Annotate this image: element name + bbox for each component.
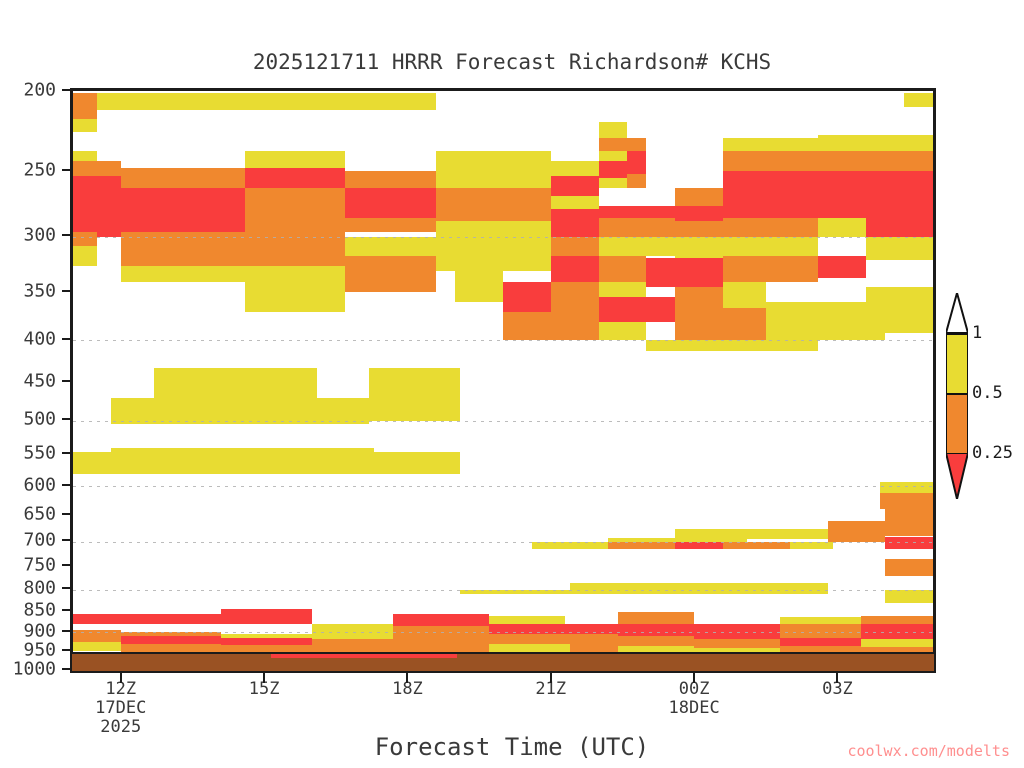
heatmap-cell	[766, 218, 819, 236]
heatmap-cell	[818, 256, 866, 278]
heatmap-cell	[861, 616, 933, 624]
y-axis-tick-label: 500	[23, 409, 56, 430]
y-axis: 2002503003504004505005506006507007508008…	[0, 0, 70, 768]
colorbar-segment	[946, 393, 968, 453]
chart-title: 2025121711 HRRR Forecast Richardson# KCH…	[0, 50, 1024, 74]
heatmap-cell	[885, 509, 933, 536]
heatmap-cell	[618, 624, 694, 636]
heatmap-cell	[221, 638, 312, 645]
heatmap-cell	[675, 206, 723, 221]
x-axis-tick-mark	[693, 673, 695, 683]
heatmap-cell	[861, 639, 933, 647]
heatmap-cell	[345, 171, 436, 188]
heatmap-cell	[489, 624, 618, 634]
heatmap-cell	[646, 221, 722, 237]
heatmap-cell	[599, 282, 647, 298]
x-tick-date: 18DEC	[669, 698, 720, 718]
heatmap-cell	[73, 151, 97, 162]
heatmap-cell	[723, 151, 819, 172]
heatmap-cell	[551, 256, 599, 282]
heatmap-cell	[345, 188, 436, 218]
colorbar-divider	[946, 333, 968, 335]
heatmap-cell	[73, 642, 121, 651]
heatmap-cell	[866, 237, 933, 260]
plot-area	[70, 88, 936, 670]
heatmap-cell	[723, 340, 819, 351]
heatmap-cell	[866, 287, 933, 308]
heatmap-cell	[608, 542, 675, 550]
x-axis-tick-mark	[120, 673, 122, 683]
heatmap-cell	[646, 258, 722, 287]
heatmap-cell	[866, 308, 933, 333]
heatmap-cell	[245, 151, 345, 169]
heatmap-cell	[345, 256, 436, 293]
heatmap-cell	[599, 322, 647, 340]
heatmap-cell	[97, 93, 436, 110]
heatmap-cell	[866, 222, 933, 237]
heatmap-cell	[345, 237, 436, 256]
heatmap-cell	[828, 521, 885, 542]
heatmap-cell	[245, 282, 345, 312]
heatmap-cell	[723, 188, 866, 218]
x-axis-tick-label: 12Z17DEC2025	[95, 680, 146, 737]
heatmap-cell	[436, 188, 551, 221]
heatmap-cell	[675, 542, 723, 550]
heatmap-cell	[885, 590, 933, 603]
x-axis-tick-mark	[406, 673, 408, 683]
heatmap-cell	[599, 122, 628, 138]
heatmap-cell	[73, 630, 121, 642]
colorbar-legend: 10.50.25	[946, 333, 968, 453]
heatmap-cell	[904, 93, 933, 107]
y-axis-tick-label: 850	[23, 600, 56, 621]
heatmap-cell	[599, 237, 675, 256]
heatmap-cell	[489, 634, 618, 644]
colorbar-tick-label: 1	[972, 323, 982, 343]
heatmap-cell	[111, 398, 154, 424]
heatmap-cell	[551, 209, 599, 236]
heatmap-cell	[121, 188, 245, 232]
heatmap-cell	[73, 176, 121, 237]
heatmap-cell	[121, 266, 346, 282]
x-axis-tick-label: 00Z18DEC	[669, 680, 720, 718]
x-axis-tick-mark	[263, 673, 265, 683]
heatmap-cell	[436, 151, 551, 176]
x-tick-date: 17DEC	[95, 698, 146, 718]
heatmap-cell	[503, 312, 551, 340]
heatmap-cell	[818, 151, 933, 172]
heatmap-cell	[618, 636, 694, 646]
heatmap-cell	[374, 452, 460, 474]
heatmap-cell	[121, 168, 245, 188]
y-axis-tick-label: 350	[23, 280, 56, 301]
heatmap-cell	[747, 529, 828, 539]
heatmap-cell	[627, 138, 646, 150]
colorbar-tick-label: 0.5	[972, 383, 1003, 403]
heatmap-cell	[723, 256, 766, 282]
heatmap-cell	[599, 256, 647, 282]
heatmap-cell	[599, 161, 628, 178]
heatmap-cell	[369, 368, 460, 421]
heatmap-cells	[73, 91, 933, 670]
heatmap-cell	[618, 612, 694, 624]
heatmap-cell	[885, 537, 933, 550]
heatmap-cell	[694, 624, 780, 639]
heatmap-cell	[345, 218, 436, 232]
heatmap-cell	[675, 237, 723, 258]
heatmap-cell	[73, 614, 221, 624]
heatmap-cell	[73, 452, 111, 474]
heatmap-cell	[866, 188, 933, 222]
y-axis-tick-label: 250	[23, 159, 56, 180]
heatmap-cell	[675, 314, 723, 340]
heatmap-cell	[599, 206, 675, 219]
heatmap-cell	[790, 542, 833, 550]
heatmap-cell	[861, 624, 933, 639]
heatmap-cell	[317, 398, 370, 424]
heatmap-cell	[766, 282, 819, 303]
heatmap-cell	[570, 583, 828, 594]
heatmap-cell	[551, 304, 599, 340]
heatmap-cell	[723, 282, 766, 309]
y-axis-tick-label: 550	[23, 443, 56, 464]
heatmap-cell	[121, 232, 245, 266]
heatmap-cell	[551, 196, 599, 209]
heatmap-cell	[532, 542, 608, 550]
heatmap-cell	[780, 617, 861, 624]
heatmap-cell	[73, 161, 121, 176]
heatmap-cell	[880, 493, 933, 509]
heatmap-cell	[436, 221, 551, 237]
heatmap-cell	[489, 616, 565, 624]
heatmap-cell	[312, 639, 393, 647]
heatmap-cell	[599, 188, 647, 205]
heatmap-cell	[111, 448, 374, 474]
heatmap-cell	[675, 188, 723, 205]
heatmap-cell	[312, 632, 393, 639]
credit-text: coolwx.com/modelts	[847, 742, 1010, 760]
chart-canvas: 2025121711 HRRR Forecast Richardson# KCH…	[0, 0, 1024, 768]
heatmap-cell	[866, 260, 933, 287]
y-axis-tick-label: 200	[23, 79, 56, 100]
heatmap-cell	[551, 282, 599, 305]
x-axis-tick-mark	[550, 673, 552, 683]
heatmap-cell	[245, 168, 345, 188]
heatmap-cell	[599, 297, 675, 321]
heatmap-cell	[455, 271, 503, 302]
heatmap-cell	[221, 609, 312, 624]
heatmap-cell	[627, 174, 646, 188]
heatmap-cell	[73, 93, 97, 119]
heatmap-cell	[154, 368, 316, 424]
heatmap-cell	[73, 246, 97, 265]
y-axis-tick-label: 450	[23, 371, 56, 392]
heatmap-cell	[766, 302, 819, 340]
heatmap-cell	[818, 302, 866, 333]
y-axis-tick-label: 900	[23, 620, 56, 641]
heatmap-cell	[780, 624, 861, 638]
heatmap-cell	[121, 624, 221, 632]
heatmap-cell	[73, 119, 97, 132]
heatmap-cell	[818, 278, 866, 303]
heatmap-cell	[599, 178, 628, 188]
x-axis-tick-mark	[836, 673, 838, 683]
colorbar-over-arrow-outline	[946, 293, 968, 333]
heatmap-cell	[818, 333, 885, 340]
heatmap-cell	[551, 237, 599, 256]
y-axis-tick-label: 600	[23, 474, 56, 495]
heatmap-cell	[646, 340, 722, 351]
heatmap-cell	[245, 188, 345, 266]
heatmap-cell	[393, 626, 489, 644]
ground-red-segment	[271, 654, 457, 658]
y-axis-tick-label: 400	[23, 328, 56, 349]
heatmap-cell	[866, 171, 933, 188]
heatmap-cell	[723, 542, 790, 550]
heatmap-cell	[460, 590, 570, 594]
heatmap-cell	[627, 151, 646, 175]
heatmap-cell	[818, 237, 866, 256]
heatmap-cell	[551, 176, 599, 197]
colorbar-tick-label: 0.25	[972, 443, 1013, 463]
heatmap-cell	[121, 636, 221, 644]
y-axis-tick-label: 750	[23, 555, 56, 576]
colorbar-divider	[946, 393, 968, 395]
heatmap-cell	[885, 559, 933, 576]
heatmap-cell	[436, 176, 551, 189]
heatmap-cell	[73, 232, 97, 246]
heatmap-cell	[723, 171, 866, 188]
y-axis-tick-label: 700	[23, 530, 56, 551]
heatmap-cell	[766, 256, 819, 282]
heatmap-cell	[675, 287, 723, 314]
heatmap-cell	[694, 639, 780, 648]
heatmap-cell	[312, 624, 393, 632]
y-axis-tick-label: 650	[23, 503, 56, 524]
heatmap-cell	[818, 135, 933, 151]
heatmap-cell	[780, 638, 861, 646]
y-axis-tick-label: 1000	[13, 658, 56, 679]
heatmap-cell	[599, 151, 628, 162]
heatmap-cell	[393, 614, 489, 626]
colorbar-segment	[946, 333, 968, 393]
heatmap-cell	[723, 218, 766, 236]
ground-bar	[70, 652, 936, 673]
heatmap-cell	[723, 237, 819, 256]
colorbar-under-arrow-icon	[946, 453, 968, 499]
y-axis-tick-label: 300	[23, 225, 56, 246]
heatmap-cell	[503, 282, 551, 312]
heatmap-cell	[766, 138, 819, 150]
heatmap-cell	[723, 308, 766, 340]
heatmap-cell	[818, 218, 866, 236]
heatmap-cell	[723, 138, 766, 150]
y-axis-tick-label: 800	[23, 578, 56, 599]
